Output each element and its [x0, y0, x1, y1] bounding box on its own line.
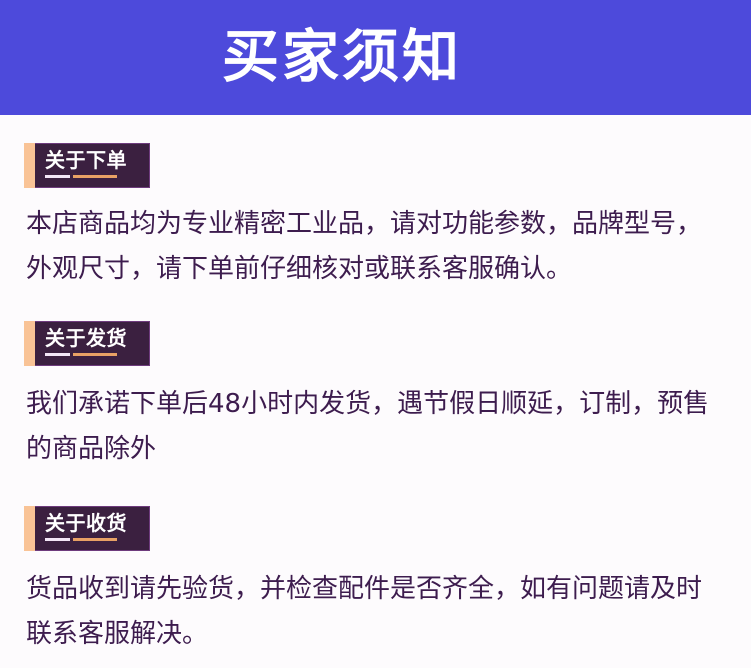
page-header-banner: 买家须知: [0, 0, 751, 115]
badge-accent-bar-icon: [24, 143, 35, 188]
badge-accent-bar-icon: [24, 506, 35, 551]
section-about-shipping: 关于发货 我们承诺下单后48小时内发货，遇节假日顺延，订制，预售的商品除外: [0, 321, 751, 471]
section-body-text: 本店商品均为专业精密工业品，请对功能参数，品牌型号，外观尺寸，请下单前仔细核对或…: [26, 202, 725, 291]
badge-label: 关于收货: [45, 513, 127, 533]
badge-underline-rules: [45, 353, 117, 356]
badge-underline-rules: [45, 538, 117, 541]
section-body-text: 我们承诺下单后48小时内发货，遇节假日顺延，订制，预售的商品除外: [26, 382, 725, 471]
badge-accent-bar-icon: [24, 321, 35, 366]
notice-content: 关于下单 本店商品均为专业精密工业品，请对功能参数，品牌型号，外观尺寸，请下单前…: [0, 115, 751, 656]
page-title: 买家须知: [222, 29, 462, 86]
badge-label: 关于发货: [45, 328, 127, 348]
badge-body: 关于下单: [35, 143, 150, 188]
section-badge-about-shipping: 关于发货: [24, 321, 150, 366]
badge-label: 关于下单: [45, 150, 127, 170]
underline-white-icon: [45, 538, 70, 541]
underline-orange-icon: [73, 353, 117, 356]
buyer-notice-page: 买家须知 关于下单 本店商品均为专业精密工业品，请对功能参数，品牌型号，外观尺寸…: [0, 0, 751, 668]
section-badge-about-receiving: 关于收货: [24, 506, 150, 551]
badge-underline-rules: [45, 175, 117, 178]
section-badge-about-order: 关于下单: [24, 143, 150, 188]
badge-body: 关于发货: [35, 321, 150, 366]
badge-body: 关于收货: [35, 506, 150, 551]
section-body-text: 货品收到请先验货，并检查配件是否齐全，如有问题请及时联系客服解决。: [26, 567, 725, 656]
underline-orange-icon: [73, 538, 117, 541]
underline-orange-icon: [73, 175, 117, 178]
section-about-order: 关于下单 本店商品均为专业精密工业品，请对功能参数，品牌型号，外观尺寸，请下单前…: [0, 143, 751, 291]
underline-white-icon: [45, 353, 70, 356]
underline-white-icon: [45, 175, 70, 178]
section-about-receiving: 关于收货 货品收到请先验货，并检查配件是否齐全，如有问题请及时联系客服解决。: [0, 506, 751, 656]
